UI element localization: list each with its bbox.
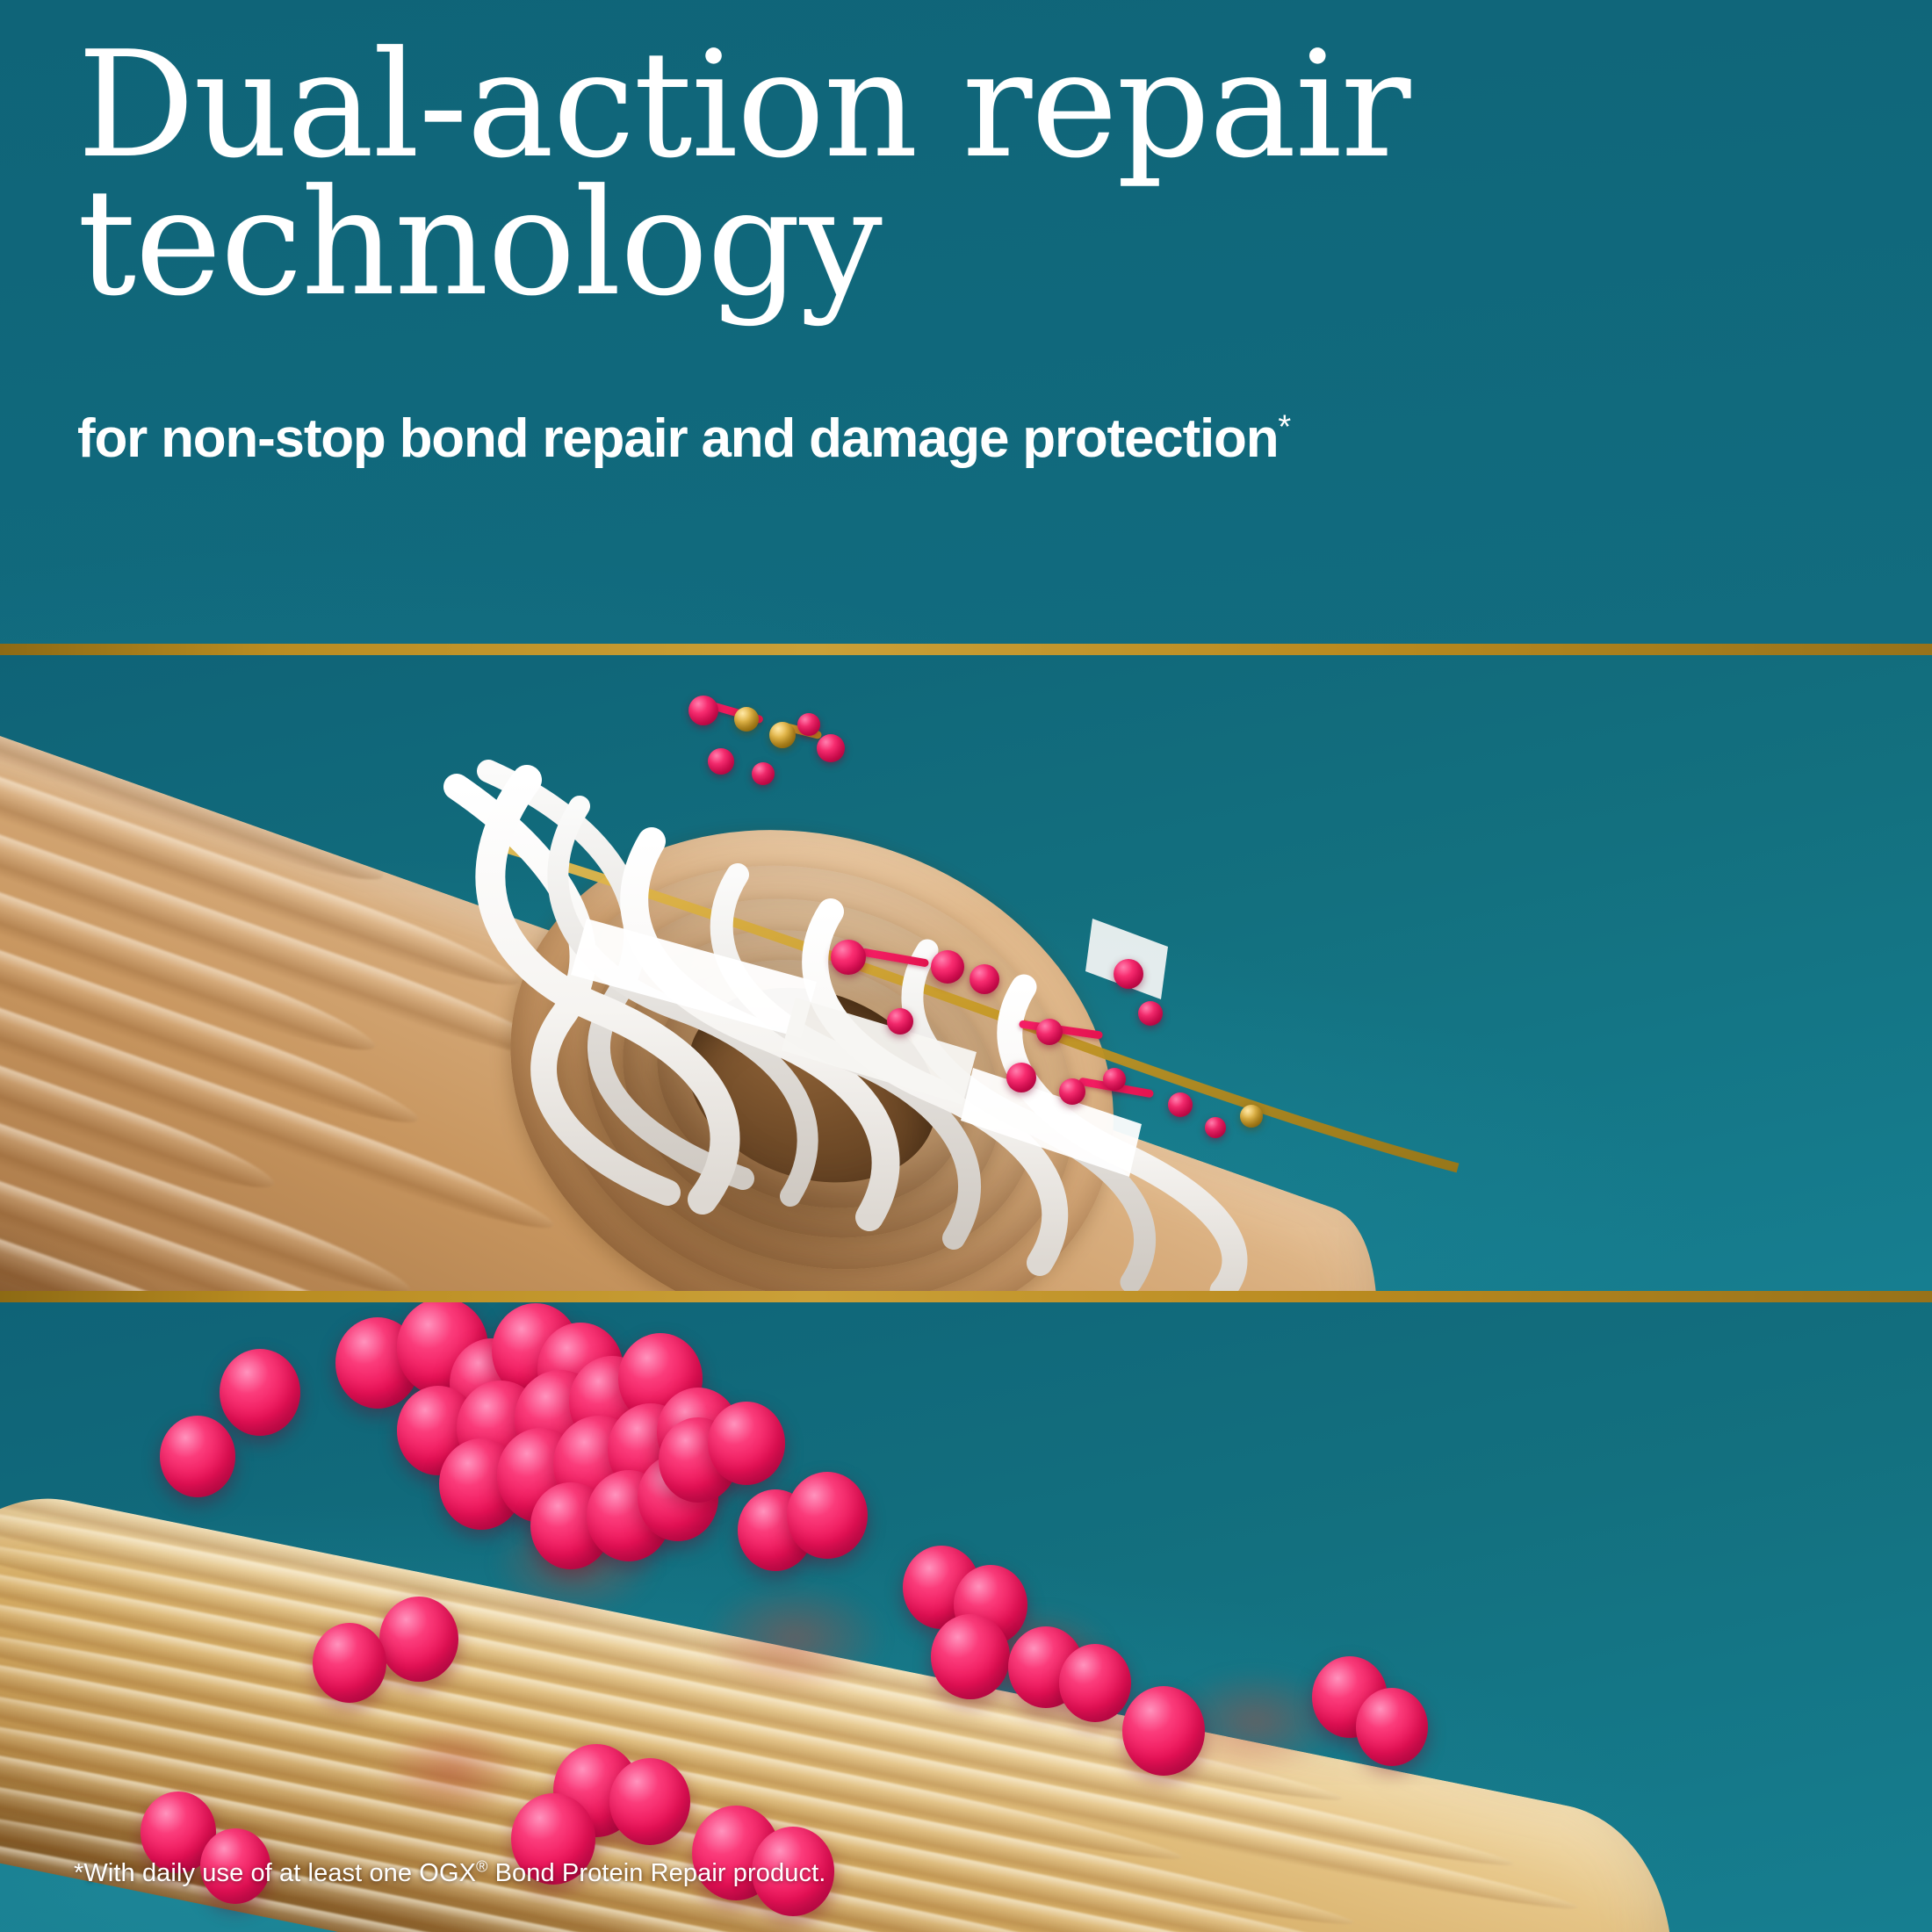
pink-molecule-sphere [220,1349,300,1436]
pink-bond-node [708,748,734,775]
pink-bond-node [1114,959,1143,989]
page-subtitle: for non-stop bond repair and damage prot… [77,410,1869,467]
footnote: *With daily use of at least one OGX® Bon… [74,1859,825,1888]
panel-step-2: 2 Binds to damaged sites [0,1302,1932,1932]
pink-bond-node [817,734,845,762]
pink-molecule-sphere [379,1597,458,1682]
gold-divider-top [0,644,1932,655]
pink-molecule-sphere [313,1623,386,1703]
pink-molecule-sphere [1059,1644,1131,1722]
pink-molecule-sphere [1356,1688,1428,1766]
pink-bond-node [1059,1078,1085,1105]
pink-bond-node [752,762,775,785]
page-subtitle-text: for non-stop bond repair and damage prot… [77,408,1278,469]
footnote-suffix: Bond Protein Repair product. [487,1859,825,1887]
header-section: Dual-action repair technology for non-st… [0,0,1932,644]
pink-molecule-sphere [931,1614,1010,1699]
pink-bond-node [1103,1068,1126,1091]
registered-trademark-icon: ® [476,1857,487,1875]
pink-molecule-sphere [609,1758,690,1845]
pink-molecule-sphere [708,1402,785,1485]
pink-bond-node [931,950,964,984]
gold-bond-node [769,722,796,748]
pink-bond-node [688,696,718,725]
pink-molecule-sphere [1122,1686,1205,1776]
pink-bond-node [970,964,999,994]
panel-step-1: 1 Rebuilds bonds [0,655,1932,1291]
damage-site-glow [378,1721,527,1818]
pink-bond-node [887,1008,913,1034]
page-title: Dual-action repair technology [77,37,1570,313]
footnote-marker-asterisk: * [1278,408,1290,445]
damage-site-glow [703,1581,887,1695]
pink-bond-node [1205,1117,1226,1138]
gold-bond-node [1240,1105,1263,1128]
pink-bond-node [1168,1092,1193,1117]
pink-bond-node [1006,1063,1036,1092]
pink-bond-node [831,940,866,975]
pink-bond-node [797,713,820,736]
pink-bond-node [1138,1001,1163,1026]
infographic-canvas: Dual-action repair technology for non-st… [0,0,1932,1932]
pink-bond-node [1036,1019,1063,1045]
footnote-prefix: *With daily use of at least one OGX [74,1859,476,1887]
keratin-ribbon-group [0,655,1932,1291]
pink-molecule-sphere [160,1416,235,1497]
gold-divider-middle [0,1291,1932,1302]
gold-bond-node [734,707,759,732]
pink-molecule-sphere [787,1472,868,1559]
